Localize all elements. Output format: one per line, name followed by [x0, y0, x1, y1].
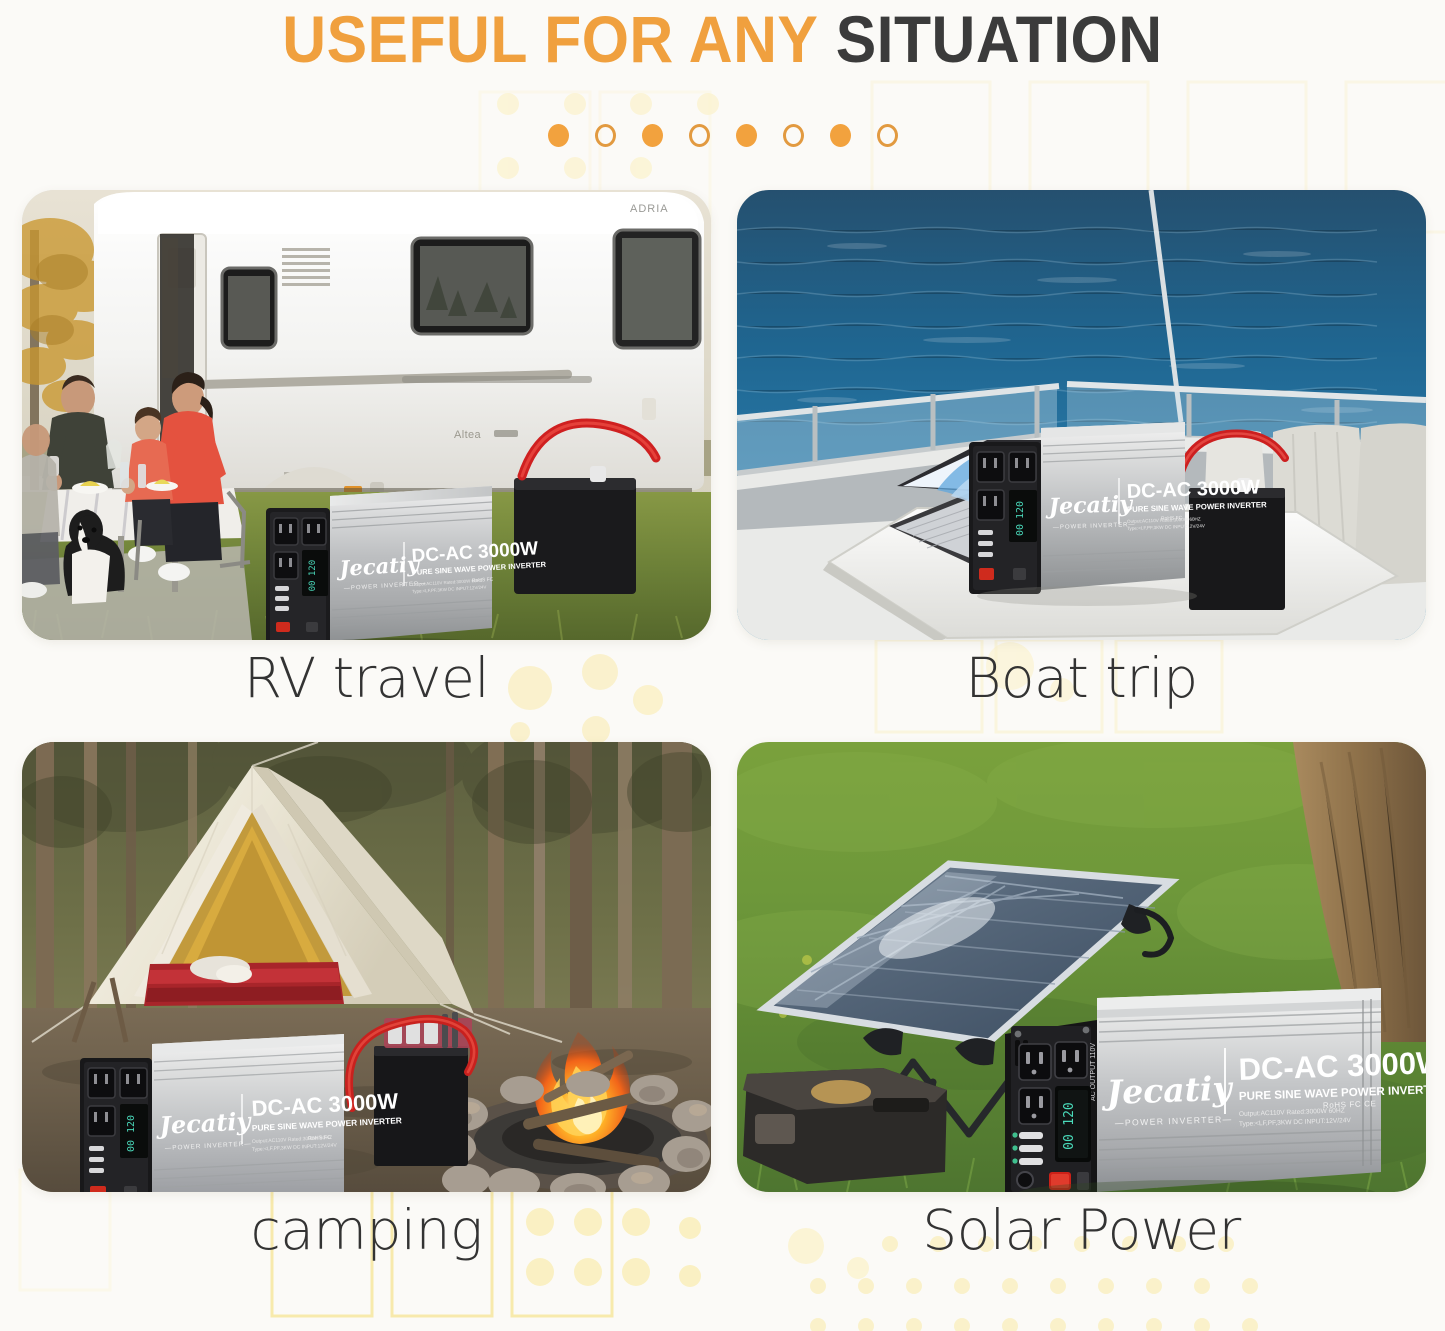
- scenario-cell-camping: 120 00 Jecatiy —P: [22, 742, 711, 1263]
- dot-hollow-1: [595, 124, 616, 147]
- svg-text:Jecatiy: Jecatiy: [155, 1106, 253, 1140]
- photo-boat-trip: 120 00 Jecatiy —P: [737, 190, 1426, 640]
- ac-output-label: AC OUTPUT 110V: [1090, 1043, 1097, 1101]
- page-title: USEFUL FOR ANY SITUATION: [0, 0, 1445, 78]
- svg-text:ADRIA: ADRIA: [630, 203, 669, 215]
- scenario-cell-rv-travel: ADRIA: [22, 190, 711, 711]
- rv-badge: Altea: [454, 429, 482, 441]
- dot-hollow-2: [689, 124, 710, 147]
- caption-boat-trip: Boat trip: [737, 646, 1426, 711]
- decorative-dot-row: [0, 122, 1445, 148]
- caption-rv-travel: RV travel: [22, 646, 711, 711]
- photo-solar-power: AC OUTPUT 110V 120 00: [737, 742, 1426, 1192]
- brand-logo: Jecatiy: [1100, 1069, 1235, 1113]
- cert-marks: RoHS FC CE: [1323, 1099, 1377, 1110]
- lcd-voltage: 120: [1062, 1102, 1077, 1125]
- dot-filled-2: [642, 124, 663, 147]
- svg-text:RoHS FC: RoHS FC: [1161, 515, 1183, 522]
- dot-hollow-3: [783, 124, 804, 147]
- page-title-dark: SITUATION: [836, 2, 1163, 76]
- caption-camping: camping: [22, 1198, 711, 1263]
- svg-text:Jecatiy: Jecatiy: [1044, 491, 1134, 520]
- svg-text:120: 120: [308, 560, 318, 576]
- dot-filled-3: [736, 124, 757, 147]
- caption-solar-power: Solar Power: [737, 1198, 1426, 1263]
- svg-text:Jecatiy: Jecatiy: [335, 551, 422, 581]
- scenario-cell-solar-power: AC OUTPUT 110V 120 00: [737, 742, 1426, 1263]
- svg-text:120: 120: [126, 1115, 137, 1133]
- page-title-orange: USEFUL FOR ANY: [282, 2, 818, 76]
- svg-text:120: 120: [1015, 501, 1026, 519]
- scenario-grid: ADRIA: [0, 190, 1445, 1290]
- svg-text:DC-AC 3000W: DC-AC 3000W: [1126, 476, 1260, 503]
- dot-filled-1: [548, 124, 569, 147]
- dot-hollow-4: [877, 124, 898, 147]
- svg-text:00: 00: [1015, 524, 1026, 536]
- photo-camping: 120 00 Jecatiy —P: [22, 742, 711, 1192]
- svg-text:00: 00: [126, 1140, 137, 1152]
- scenario-cell-boat-trip: 120 00 Jecatiy —P: [737, 190, 1426, 711]
- photo-rv-travel: ADRIA: [22, 190, 711, 640]
- lcd-load: 00: [1062, 1134, 1077, 1150]
- dot-filled-4: [830, 124, 851, 147]
- model-line: DC-AC 3000W: [1238, 1045, 1426, 1087]
- svg-text:00: 00: [308, 581, 318, 592]
- svg-text:RoHS FC: RoHS FC: [308, 1135, 331, 1142]
